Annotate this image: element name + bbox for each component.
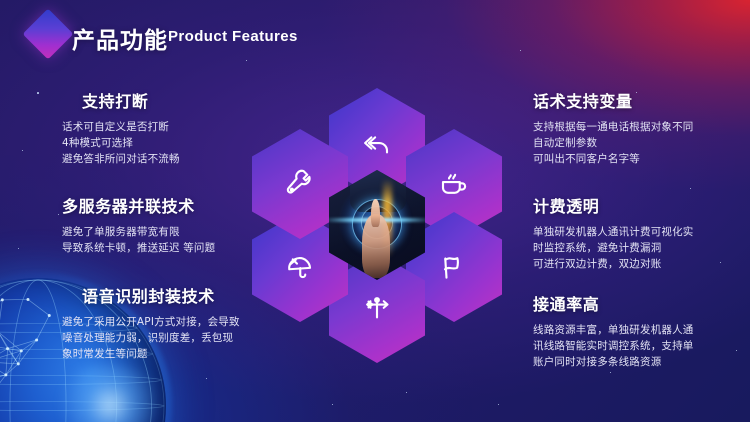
star-dot: [18, 248, 19, 249]
hexagon-cluster: [252, 88, 502, 363]
star-dot: [44, 396, 45, 397]
globe-highlight: [50, 365, 166, 422]
feature-line: 自动定制参数: [533, 135, 750, 151]
feature-line: 时监控系统，避免计费漏洞: [533, 240, 750, 256]
feature-line: 支持根据每一通电话根据对象不同: [533, 119, 750, 135]
star-dot: [118, 406, 119, 407]
umbrella-icon: [285, 252, 315, 282]
feature-right-2: 计费透明 单独研发机器人通讯计费可视化实 时监控系统，避免计费漏洞 可进行双边计…: [533, 193, 750, 272]
star-dot: [332, 404, 333, 405]
flag-icon: [439, 252, 469, 282]
slide-canvas: 产品功能 Product Features 支持打断 话术可自定义是否打断 4种…: [0, 0, 750, 422]
feature-title: 接通率高: [533, 291, 750, 315]
star-dot: [406, 392, 407, 393]
feature-right-1: 话术支持变量 支持根据每一通电话根据对象不同 自动定制参数 可叫出不同客户名字等: [533, 88, 750, 167]
feature-right-3: 接通率高 线路资源丰富，单独研发机器人通 讯线路智能实时调控系统，支持单 账户同…: [533, 291, 750, 370]
feature-line: 单独研发机器人通讯计费可视化实: [533, 224, 750, 240]
feature-line: 可叫出不同客户名字等: [533, 151, 750, 167]
diamond-logo-icon: [23, 9, 74, 60]
feature-line: 可进行双边计费，双边对账: [533, 256, 750, 272]
feature-line: 讯线路智能实时调控系统，支持单: [533, 338, 750, 354]
reply-arrow-icon: [362, 128, 392, 158]
star-dot: [610, 372, 611, 373]
weathervane-arrow-icon: [362, 293, 392, 323]
coffee-cup-icon: [439, 169, 469, 199]
star-dot: [22, 150, 23, 151]
wrench-icon: [285, 169, 315, 199]
star-dot: [8, 330, 10, 332]
star-dot: [206, 378, 207, 379]
star-dot: [690, 188, 691, 189]
star-dot: [58, 214, 59, 215]
feature-line: 账户同时对接多条线路资源: [533, 354, 750, 370]
page-subtitle: Product Features: [168, 28, 298, 45]
star-dot: [498, 404, 499, 405]
page-title: 产品功能: [72, 21, 168, 55]
slide-header: 产品功能 Product Features: [0, 0, 750, 68]
feature-title: 话术支持变量: [533, 88, 750, 112]
feature-line: 线路资源丰富，单独研发机器人通: [533, 322, 750, 338]
feature-title: 计费透明: [533, 193, 750, 217]
center-finger: [371, 199, 380, 228]
star-dot: [37, 92, 39, 94]
